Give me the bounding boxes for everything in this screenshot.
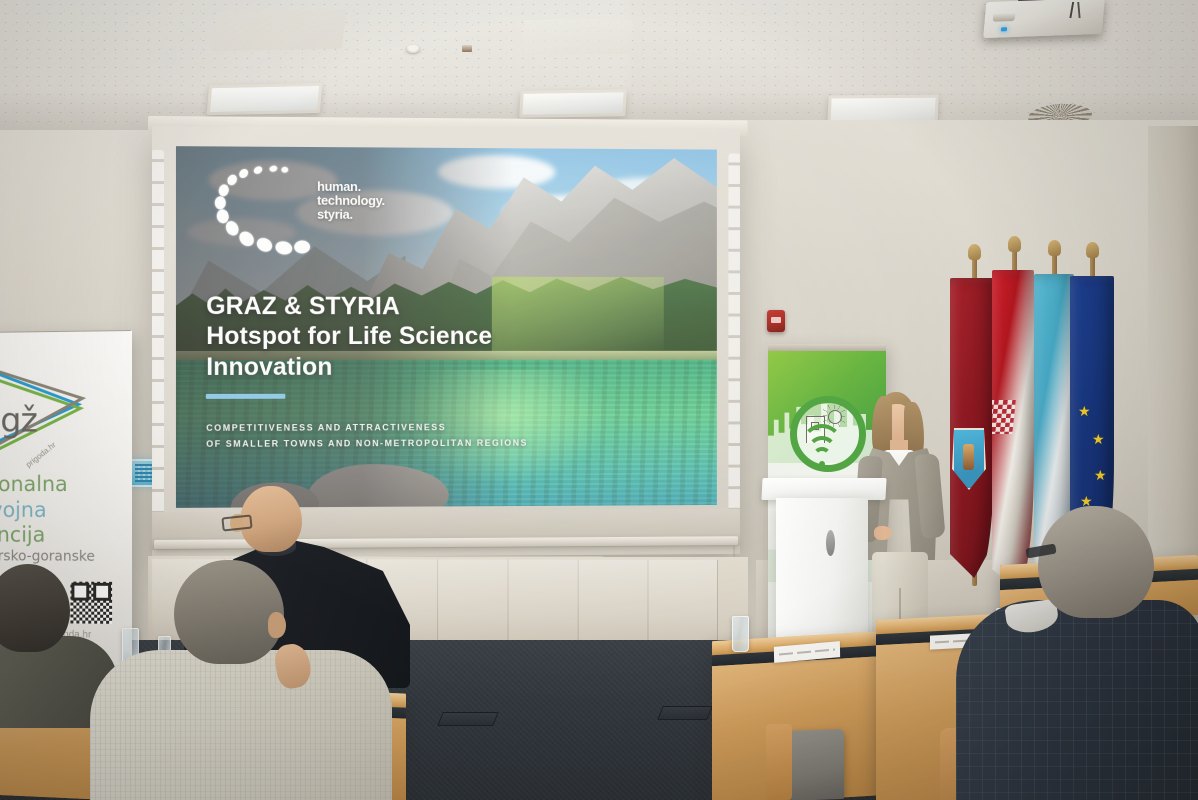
banner-headline: regionalna razvojna agencija Primorsko-g… (0, 472, 132, 566)
bead-chain-icon (206, 164, 331, 258)
slide-subtitle: COMPETITIVENESS AND ATTRACTIVENESS OF SM… (206, 420, 528, 452)
audience-person-checked-suit (980, 506, 1198, 800)
slide-subtitle-line-2: OF SMALLER TOWNS AND NON-METROPOLITAN RE… (206, 436, 528, 453)
slide-title: GRAZ & STYRIA Hotspot for Life Science I… (206, 291, 492, 382)
conference-room-photo: human. technology. styria. GRAZ & STYRIA… (0, 0, 1198, 800)
sunlit-slope (492, 277, 664, 356)
ceiling-recess-panel (211, 9, 346, 51)
projector-power-led (1001, 27, 1007, 31)
wifi-icon (804, 442, 840, 466)
cabinet-door[interactable] (648, 560, 718, 643)
flag-finial (1008, 236, 1021, 252)
person-ear (268, 612, 286, 638)
banner-top-rail (768, 344, 886, 351)
eu-star-icon: ★ (1078, 404, 1091, 418)
pgz-logo-mark: pgž prigoda.hr (0, 349, 88, 461)
pgz-wordmark: pgž (0, 401, 37, 441)
suit-check-pattern (956, 600, 1198, 800)
human-technology-styria-logo: human. technology. styria. (206, 164, 446, 259)
ceiling-recess-panel-2 (520, 20, 634, 54)
shirt-texture (90, 650, 392, 800)
banner-line-1: regionalna (0, 472, 132, 498)
flag-finial (968, 244, 981, 260)
coat-of-arms-icon (952, 428, 986, 490)
lectern-top (761, 478, 886, 500)
logo-line-3: styria. (317, 207, 385, 221)
floor-outlet-box (437, 712, 499, 726)
seat-wood-back (766, 724, 792, 800)
water-glass[interactable] (732, 616, 749, 652)
presentation-slide: human. technology. styria. GRAZ & STYRIA… (176, 146, 717, 508)
person-head (174, 560, 284, 664)
floor-outlet-box (657, 706, 713, 720)
audience-person-light-shirt (62, 560, 392, 800)
microphone-icon (826, 530, 835, 556)
slide-title-line-1: GRAZ & STYRIA (206, 291, 492, 322)
slide-title-line-2: Hotspot for Life Science (206, 321, 492, 351)
cabinet-door[interactable] (508, 560, 579, 643)
ceiling-sensor-icon (462, 45, 472, 52)
smoke-detector-icon (406, 45, 420, 53)
projector-lens-icon (993, 12, 1016, 22)
slide-accent-rule (206, 394, 285, 399)
screen-edge-right (728, 154, 740, 547)
sun-icon (828, 410, 842, 424)
banner-line-3: agencija (0, 523, 132, 549)
fire-alarm-icon[interactable] (767, 310, 785, 332)
eu-star-icon: ★ (1094, 468, 1107, 482)
cabinet-door[interactable] (437, 559, 508, 642)
person-torso (956, 600, 1198, 800)
flag-finial (1086, 242, 1099, 258)
logo-text: human. technology. styria. (317, 180, 385, 221)
flag-finial (1048, 240, 1061, 256)
screen-edge-left (152, 150, 164, 550)
logo-line-2: technology. (317, 194, 385, 208)
slide-title-line-3: Innovation (206, 352, 492, 383)
auditorium-seat[interactable] (786, 729, 844, 800)
slide-subtitle-line-1: COMPETITIVENESS AND ATTRACTIVENESS (206, 420, 528, 437)
person-head (1038, 506, 1154, 618)
eu-star-icon: ★ (1092, 432, 1105, 446)
projector-cables (1050, 2, 1096, 18)
person-torso (90, 650, 392, 800)
person-head (0, 564, 70, 652)
banner-line-2: razvojna (0, 498, 132, 524)
cabinet-door[interactable] (578, 560, 649, 643)
